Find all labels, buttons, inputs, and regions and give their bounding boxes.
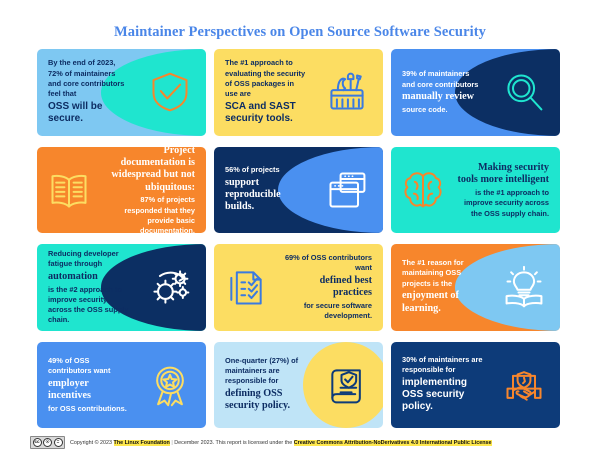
card-body: One-quarter (27%) of maintainers are res… bbox=[214, 342, 383, 429]
card-body: By the end of 2023, 72% of maintainers a… bbox=[37, 49, 206, 136]
card-oss-will-be-secure: By the end of 2023, 72% of maintainers a… bbox=[37, 49, 206, 136]
card-enjoyment-of-learning: The #1 reason for maintaining OSS projec… bbox=[391, 244, 560, 331]
card-automation: Reducing developer fatigue throughautoma… bbox=[37, 244, 206, 331]
card-lead-text: The #1 reason for maintaining OSS projec… bbox=[402, 258, 484, 289]
card-text: By the end of 2023, 72% of maintainers a… bbox=[37, 58, 134, 126]
card-highlight-text: Project documentation is widespread but … bbox=[103, 147, 195, 194]
card-body: 39% of maintainers and core contributors… bbox=[391, 49, 560, 136]
card-highlight-text: support reproducible builds. bbox=[225, 177, 307, 214]
browser-windows-icon bbox=[311, 168, 383, 212]
card-body: Making security tools more intelligentis… bbox=[391, 147, 560, 234]
card-employer-incentives: 49% of OSS contributors wantemployer inc… bbox=[37, 342, 206, 429]
card-text: Making security tools more intelligentis… bbox=[455, 161, 560, 219]
footer: cc ☉ = Copyright © 2023 The Linux Founda… bbox=[0, 436, 600, 449]
card-lead-text: One-quarter (27%) of maintainers are res… bbox=[225, 356, 307, 387]
card-lead-text: Reducing developer fatigue through bbox=[48, 249, 130, 269]
card-body: Reducing developer fatigue throughautoma… bbox=[37, 244, 206, 331]
checklist-icon bbox=[214, 265, 278, 309]
handshake-shield-icon bbox=[488, 363, 560, 407]
card-text: The #1 approach to evaluating the securi… bbox=[214, 58, 311, 126]
card-highlight-text: defining OSS security policy. bbox=[225, 388, 307, 412]
card-text: 49% of OSS contributors wantemployer inc… bbox=[37, 356, 134, 414]
footer-copyright: Copyright © 2023 bbox=[70, 440, 112, 446]
page-title: Maintainer Perspectives on Open Source S… bbox=[0, 24, 600, 41]
card-lead-text: By the end of 2023, 72% of maintainers a… bbox=[48, 58, 130, 99]
card-lead-text: 56% of projects bbox=[225, 165, 307, 175]
award-ribbon-icon bbox=[134, 363, 206, 407]
policy-scroll-icon bbox=[311, 363, 383, 407]
card-body: 49% of OSS contributors wantemployer inc… bbox=[37, 342, 206, 429]
magnifier-icon bbox=[488, 70, 560, 114]
card-text: The #1 reason for maintaining OSS projec… bbox=[391, 258, 488, 316]
card-implementing-policy: 30% of maintainers are responsible forim… bbox=[391, 342, 560, 429]
brain-icon bbox=[391, 168, 455, 212]
card-tail-text: for secure software development. bbox=[280, 301, 372, 321]
card-body: The #1 reason for maintaining OSS projec… bbox=[391, 244, 560, 331]
card-sca-and-sast: The #1 approach to evaluating the securi… bbox=[214, 49, 383, 136]
card-highlight-text: implementing OSS security policy. bbox=[402, 377, 484, 413]
shield-check-icon bbox=[134, 70, 206, 114]
card-body: 30% of maintainers are responsible forim… bbox=[391, 342, 560, 429]
card-highlight-text: SCA and SAST security tools. bbox=[225, 101, 307, 125]
open-book-icon bbox=[37, 168, 101, 212]
card-highlight-text: automation bbox=[48, 271, 130, 283]
card-best-practices: 69% of OSS contributors wantdefined best… bbox=[214, 244, 383, 331]
card-text: One-quarter (27%) of maintainers are res… bbox=[214, 356, 311, 414]
card-reproducible-builds: 56% of projectssupport reproducible buil… bbox=[214, 147, 383, 234]
footer-separator: | bbox=[171, 440, 172, 446]
card-tail-text: source code. bbox=[402, 105, 484, 115]
card-text: Project documentation is widespread but … bbox=[101, 147, 206, 234]
card-security-tools-intelligent: Making security tools more intelligentis… bbox=[391, 147, 560, 234]
card-text: 56% of projectssupport reproducible buil… bbox=[214, 165, 311, 215]
card-highlight-text: enjoyment of learning. bbox=[402, 290, 484, 314]
lightbulb-book-icon bbox=[488, 265, 560, 309]
toolbox-icon bbox=[311, 70, 383, 114]
card-highlight-text: OSS will be secure. bbox=[48, 101, 130, 125]
card-tail-text: 87% of projects responded that they prov… bbox=[103, 195, 195, 233]
card-manually-review: 39% of maintainers and core contributors… bbox=[391, 49, 560, 136]
footer-date-text: December 2023. This report is licensed u… bbox=[174, 440, 292, 446]
card-defining-policy: One-quarter (27%) of maintainers are res… bbox=[214, 342, 383, 429]
card-text: 69% of OSS contributors wantdefined best… bbox=[278, 253, 383, 321]
card-body: 69% of OSS contributors wantdefined best… bbox=[214, 244, 383, 331]
card-tail-text: for OSS contributions. bbox=[48, 404, 130, 414]
infographic-page: Maintainer Perspectives on Open Source S… bbox=[0, 0, 600, 468]
footer-license-link[interactable]: Creative Commons Attribution-NoDerivativ… bbox=[294, 440, 492, 446]
creative-commons-icon: cc ☉ = bbox=[30, 436, 65, 449]
card-body: Project documentation is widespread but … bbox=[37, 147, 206, 234]
gears-icon bbox=[134, 265, 206, 309]
card-lead-text: 30% of maintainers are responsible for bbox=[402, 355, 484, 375]
card-highlight-text: employer incentives bbox=[48, 378, 130, 402]
card-project-documentation: Project documentation is widespread but … bbox=[37, 147, 206, 234]
card-tail-text: is the #1 approach to improve security a… bbox=[457, 188, 549, 219]
card-highlight-text: manually review bbox=[402, 91, 484, 103]
card-tail-text: is the #2 approach to improve security a… bbox=[48, 285, 130, 326]
card-lead-text: 39% of maintainers and core contributors bbox=[402, 69, 484, 89]
footer-org[interactable]: The Linux Foundation bbox=[114, 440, 170, 446]
card-lead-text: 69% of OSS contributors want bbox=[280, 253, 372, 273]
card-text: 30% of maintainers are responsible forim… bbox=[391, 355, 488, 414]
card-body: 56% of projectssupport reproducible buil… bbox=[214, 147, 383, 234]
card-text: 39% of maintainers and core contributors… bbox=[391, 69, 488, 115]
card-highlight-text: defined best practices bbox=[280, 275, 372, 299]
card-text: Reducing developer fatigue throughautoma… bbox=[37, 249, 134, 326]
card-lead-text: The #1 approach to evaluating the securi… bbox=[225, 58, 307, 99]
stats-card-grid: By the end of 2023, 72% of maintainers a… bbox=[37, 49, 560, 428]
card-body: The #1 approach to evaluating the securi… bbox=[214, 49, 383, 136]
footer-text: Copyright © 2023 The Linux Foundation | … bbox=[70, 440, 492, 446]
card-highlight-text: Making security tools more intelligent bbox=[457, 162, 549, 186]
card-lead-text: 49% of OSS contributors want bbox=[48, 356, 130, 376]
